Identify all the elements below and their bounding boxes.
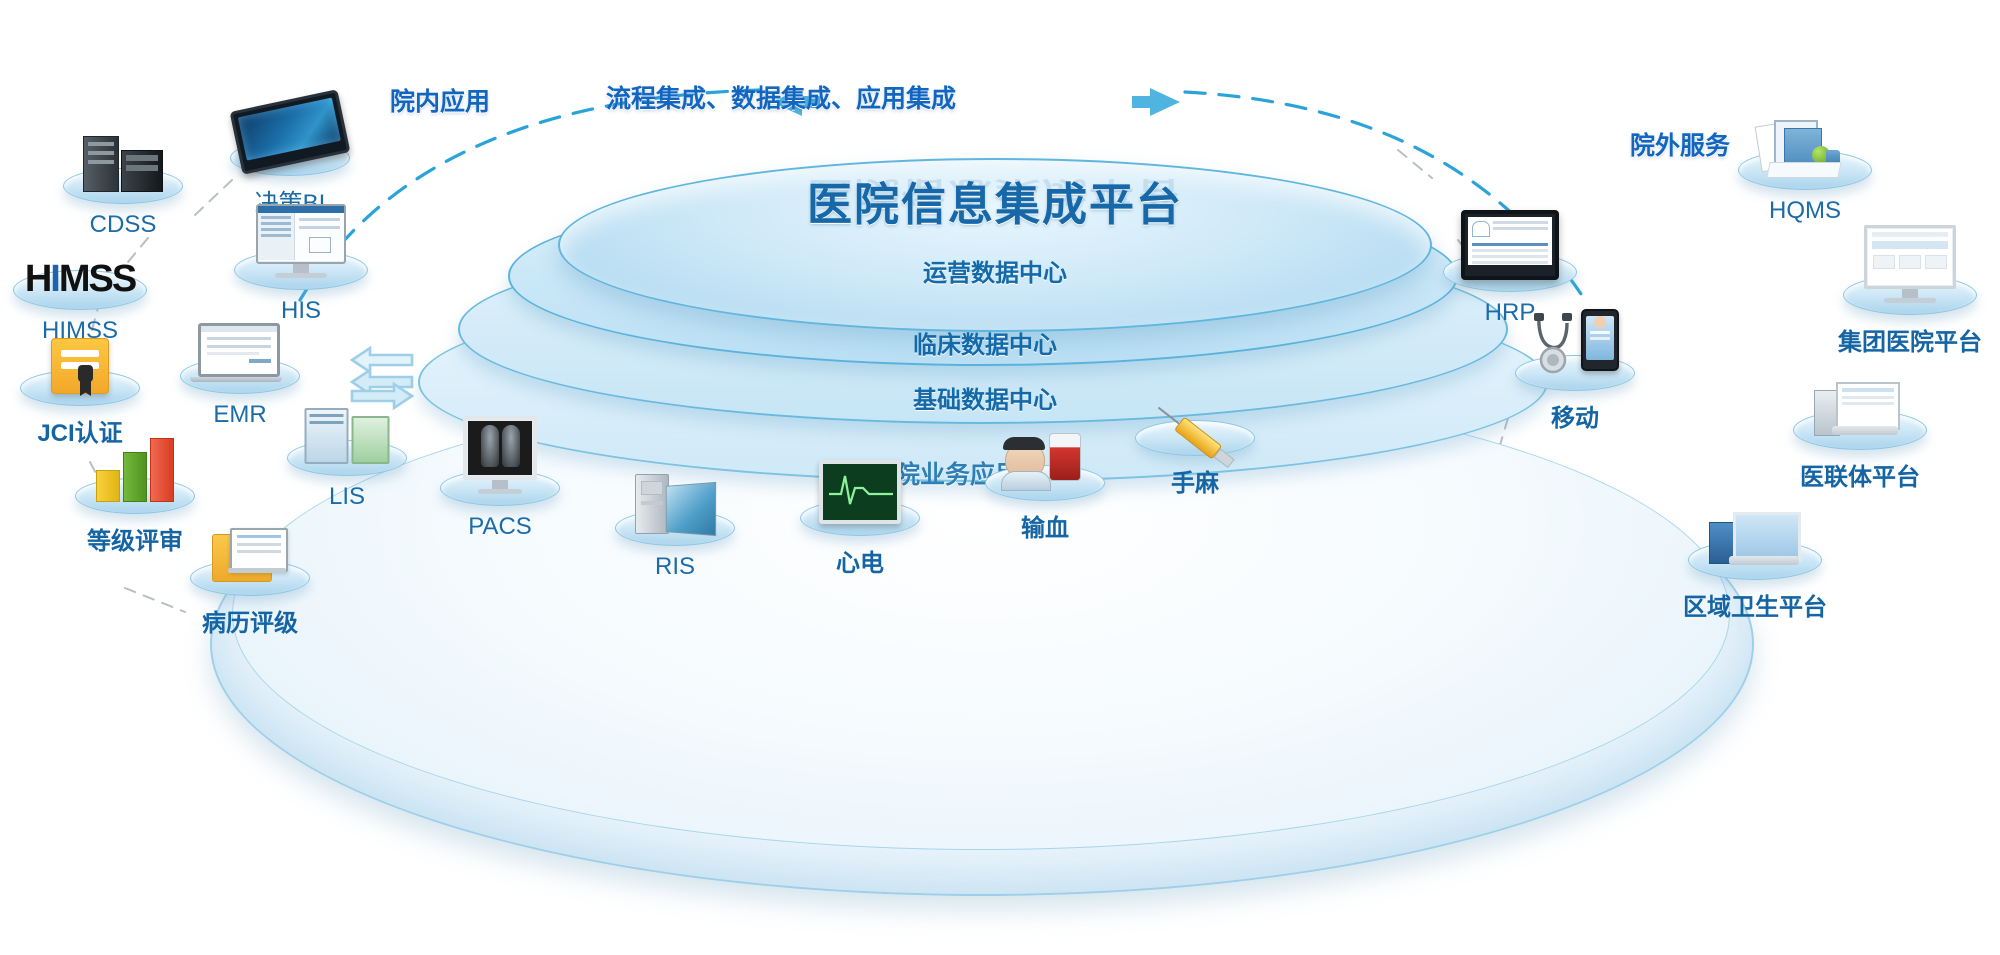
bar-chart-3d-icon (96, 438, 174, 502)
node-emr-rating[interactable]: 病历评级 (165, 560, 335, 638)
node-label: 移动 (1490, 398, 1660, 433)
ring-label-foundation: 基础数据中心 (470, 380, 1500, 415)
node-label: CDSS (38, 211, 208, 239)
flow-integration-label: 流程集成、数据集成、应用集成 (606, 79, 956, 115)
pedestal (1515, 355, 1635, 391)
ring-label-operation: 运营数据中心 (560, 253, 1430, 288)
pedestal (440, 470, 560, 506)
pedestal (180, 358, 300, 394)
pedestal (234, 250, 368, 290)
node-emr[interactable]: EMR (155, 358, 325, 429)
tablet-dashboard-icon (235, 100, 345, 164)
node-label: LIS (262, 483, 432, 511)
node-label: 输血 (960, 508, 1130, 543)
node-ris[interactable]: RIS (590, 510, 760, 581)
node-label: 医联体平台 (1760, 457, 1960, 492)
pedestal (1688, 540, 1822, 580)
pedestal (1738, 150, 1872, 190)
pedestal (1843, 275, 1977, 315)
pedestal (20, 370, 140, 406)
pedestal (287, 440, 407, 476)
node-jci[interactable]: JCI认证 (0, 370, 165, 448)
node-label: HQMS (1720, 197, 1890, 225)
ring-label-clinical: 临床数据中心 (510, 325, 1460, 360)
node-label: HIS (216, 297, 386, 325)
laptop-icon (198, 323, 282, 382)
pedestal (63, 168, 183, 204)
node-label: RIS (590, 553, 760, 581)
pedestal (190, 560, 310, 596)
node-hqms[interactable]: HQMS (1720, 150, 1890, 225)
certificate-seal-icon (51, 338, 109, 394)
pedestal: HIMSS (13, 270, 147, 310)
syringe-icon (1149, 427, 1241, 444)
pedestal (985, 465, 1105, 501)
node-label: 手麻 (1110, 463, 1280, 498)
node-label: 等级评审 (50, 521, 220, 556)
desktop-monitor-icon (256, 204, 346, 278)
pedestal (75, 478, 195, 514)
node-himss[interactable]: HIMSS HIMSS (0, 270, 165, 345)
node-mobile[interactable]: 移动 (1490, 355, 1660, 433)
stethoscope-phone-icon (1527, 309, 1623, 379)
node-group-hospital-platform[interactable]: 集团医院平台 (1810, 275, 2000, 357)
desktop-portal-icon (1864, 225, 1956, 303)
server-rack-icon (83, 136, 163, 192)
lab-monitor-icon (305, 408, 390, 464)
section-header-internal: 院内应用 (390, 82, 490, 118)
ecg-monitor-icon (819, 460, 901, 524)
blue-monitor-icon (1709, 512, 1801, 568)
pedestal (1793, 410, 1927, 450)
platform-title: 医院信息集成平台 (560, 168, 1430, 233)
node-lis[interactable]: LIS (262, 440, 432, 511)
node-label: 心电 (775, 543, 945, 578)
pedestal (230, 140, 350, 176)
himss-logo-icon: HIMSS (25, 260, 135, 298)
node-grade-review[interactable]: 等级评审 (50, 478, 220, 556)
node-medical-union-platform[interactable]: 医联体平台 (1760, 410, 1960, 492)
node-anesthesia[interactable]: 手麻 (1110, 420, 1280, 498)
node-pacs[interactable]: PACS (415, 470, 585, 541)
node-cdss[interactable]: CDSS (38, 168, 208, 239)
node-label: 病历评级 (165, 603, 335, 638)
pedestal (800, 500, 920, 536)
pedestal (615, 510, 735, 546)
folder-laptop-icon (212, 528, 288, 584)
node-ecg[interactable]: 心电 (775, 500, 945, 578)
xray-monitor-icon (463, 416, 537, 494)
tablet-form-icon (1461, 210, 1559, 280)
node-his[interactable]: HIS (216, 250, 386, 325)
node-regional-health-platform[interactable]: 区域卫生平台 (1655, 540, 1855, 622)
node-label: 集团医院平台 (1810, 322, 2000, 357)
node-label: PACS (415, 513, 585, 541)
workstation-icon (635, 474, 715, 534)
diagram-canvas: 医院信息集成平台 医院信息集成平台 运营数据中心 临床数据中心 基础数据中心 医… (0, 0, 2000, 955)
node-blood-transfusion[interactable]: 输血 (960, 465, 1130, 543)
blood-transfusion-icon (999, 427, 1091, 489)
dual-screen-icon (1814, 382, 1906, 438)
section-header-external: 院外服务 (1630, 126, 1730, 162)
pedestal (1135, 420, 1255, 456)
node-label: 区域卫生平台 (1655, 587, 1855, 622)
node-label: EMR (155, 401, 325, 429)
documents-icon (1756, 118, 1854, 178)
pedestal (1443, 252, 1577, 292)
